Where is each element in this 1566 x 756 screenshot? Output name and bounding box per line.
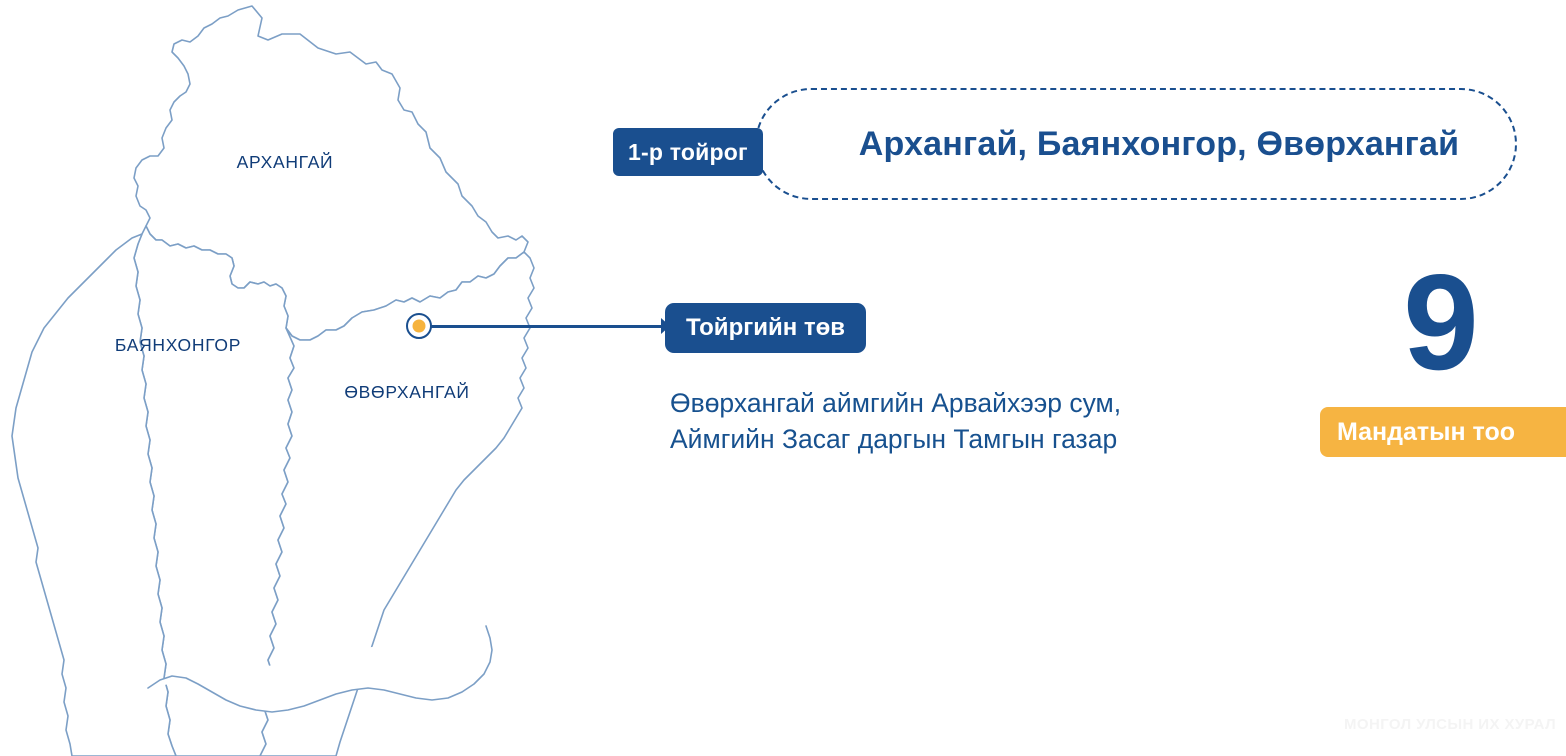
map-svg: АРХАНГАЙ БАЯНХОНГОР ӨВӨРХАНГАЙ [0, 0, 620, 756]
mandate-count: 9 [1355, 254, 1525, 390]
leader-line [431, 325, 670, 328]
location-dot-icon[interactable] [406, 313, 432, 339]
provinces-label: Архангай, Баянхонгор, Өвөрхангай [813, 125, 1460, 164]
district-badge[interactable]: 1-р тойрог [613, 128, 763, 176]
province-map: АРХАНГАЙ БАЯНХОНГОР ӨВӨРХАНГАЙ [0, 0, 620, 756]
infographic-canvas: АРХАНГАЙ БАЯНХОНГОР ӨВӨРХАНГАЙ Архангай,… [0, 0, 1566, 756]
center-badge[interactable]: Тойргийн төв [665, 303, 866, 353]
province-label-ovorkhangai: ӨВӨРХАНГАЙ [344, 381, 469, 402]
watermark: МОНГОЛ УЛСЫН ИХ ХУРАЛ [1344, 716, 1556, 733]
mandate-label-badge: Мандатын тоо [1320, 407, 1566, 457]
province-label-bayankhongor: БАЯНХОНГОР [115, 335, 241, 355]
province-label-arkhangai: АРХАНГАЙ [237, 151, 334, 172]
provinces-pill: Архангай, Баянхонгор, Өвөрхангай [755, 88, 1517, 200]
center-address: Өвөрхангай аймгийн Арвайхээр сум, Аймгий… [670, 385, 1270, 457]
